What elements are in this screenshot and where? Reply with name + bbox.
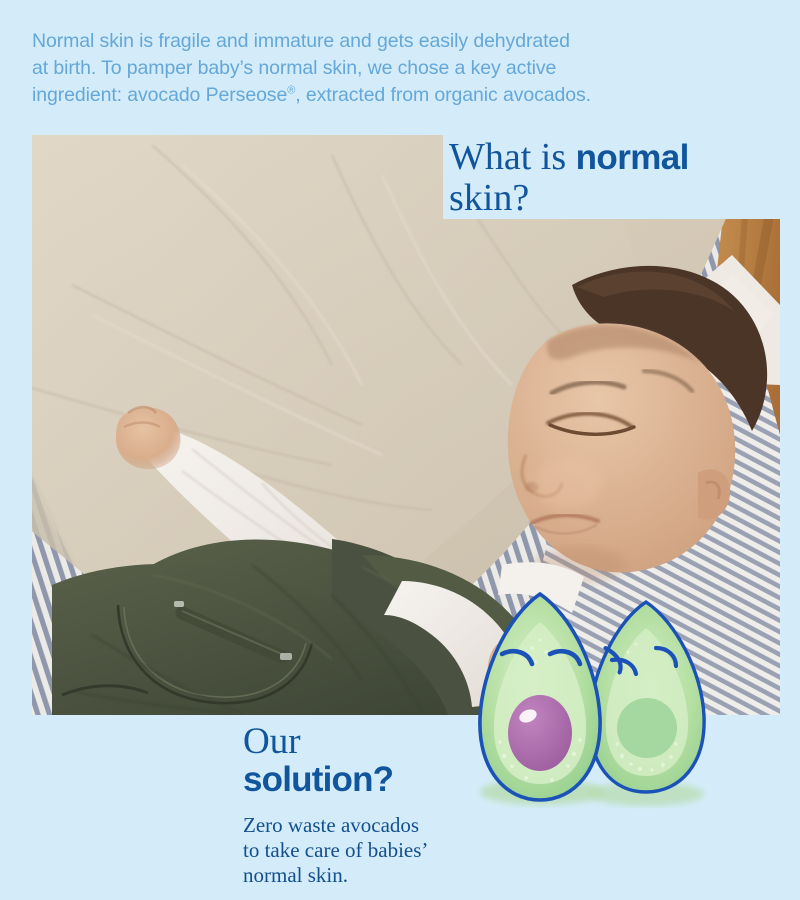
avocado-illustration	[470, 588, 720, 818]
heading-line-1: What is normal	[449, 137, 800, 178]
solution-heading-emphasis: solution?	[243, 760, 493, 800]
avocado-right	[590, 602, 704, 792]
solution-body-line-1: Zero waste avocados	[243, 813, 419, 837]
infographic-page: Normal skin is fragile and immature and …	[0, 0, 800, 900]
intro-paragraph: Normal skin is fragile and immature and …	[32, 28, 722, 109]
intro-line-3-before: ingredient: avocado Perseose	[32, 84, 287, 106]
solution-body-line-2: to take care of babies’	[243, 838, 428, 862]
heading-line-2: skin?	[449, 178, 800, 219]
heading-text-plain: What is	[449, 136, 576, 178]
intro-line-2: at birth. To pamper baby’s normal skin, …	[32, 57, 556, 79]
solution-body: Zero waste avocados to take care of babi…	[243, 813, 493, 888]
avocado-left	[480, 594, 600, 800]
solution-block: Our solution? Zero waste avocados to tak…	[243, 722, 493, 888]
intro-line-1: Normal skin is fragile and immature and …	[32, 30, 570, 52]
heading-block: What is normal skin?	[443, 135, 800, 219]
solution-body-line-3: normal skin.	[243, 863, 348, 887]
solution-heading-plain: Our	[243, 722, 493, 761]
avocado-pit	[508, 695, 572, 771]
intro-line-3-after: , extracted from organic avocados.	[295, 84, 591, 106]
heading-text-emphasis: normal	[576, 138, 689, 177]
